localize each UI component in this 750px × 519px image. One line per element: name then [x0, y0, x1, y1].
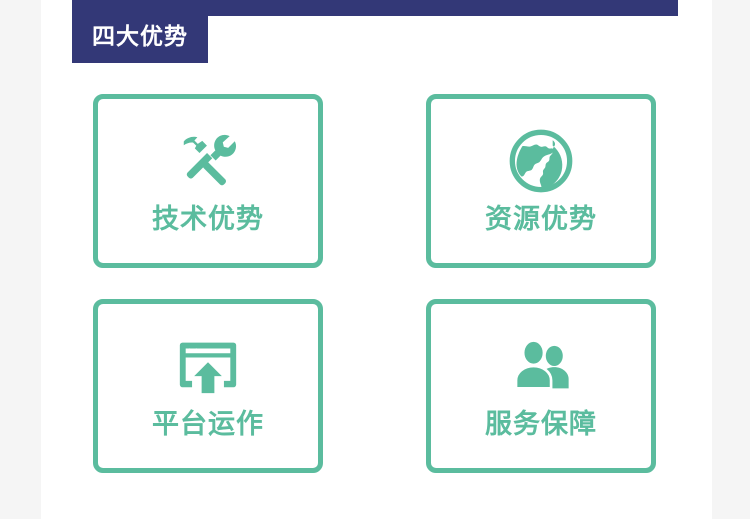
- advantage-card-label: 服务保障: [485, 410, 597, 440]
- section-title-badge: 四大优势: [72, 0, 208, 63]
- section-title-text: 四大优势: [92, 16, 188, 48]
- advantage-card-label: 平台运作: [152, 410, 264, 440]
- advantage-card-resources[interactable]: 资源优势: [426, 94, 656, 268]
- advantage-card-service[interactable]: 服务保障: [426, 299, 656, 473]
- content-panel: 四大优势: [41, 0, 712, 519]
- advantage-card-technology[interactable]: 技术优势: [93, 94, 323, 268]
- globe-icon: [507, 127, 575, 195]
- section-header: 四大优势: [41, 0, 712, 63]
- advantage-card-platform[interactable]: 平台运作: [93, 299, 323, 473]
- page-root: 四大优势: [0, 0, 750, 519]
- two-users-icon: [507, 332, 575, 400]
- hammer-wrench-icon: [174, 127, 242, 195]
- browser-upload-icon: [174, 332, 242, 400]
- advantage-card-label: 技术优势: [152, 205, 264, 235]
- advantage-card-label: 资源优势: [485, 205, 597, 235]
- advantage-card-grid: 技术优势 资源优势: [93, 94, 707, 473]
